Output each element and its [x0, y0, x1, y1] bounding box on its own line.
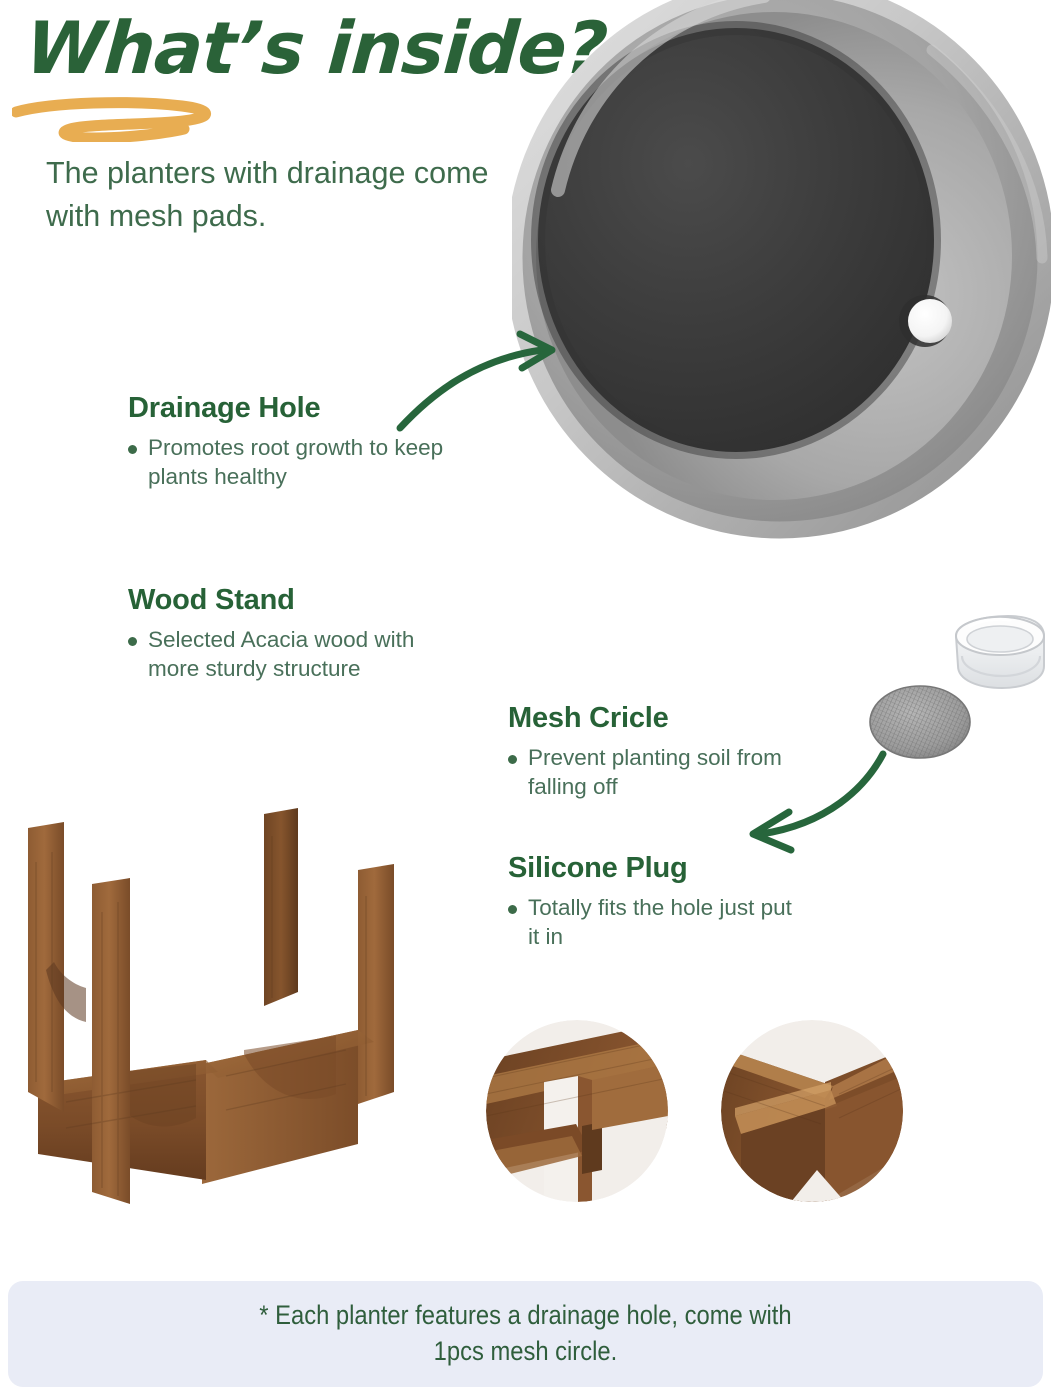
feature-description-silicone-plug: Totally fits the hole just put it in — [528, 894, 808, 952]
page-subtitle: The planters with drainage come with mes… — [46, 152, 516, 239]
feature-heading-mesh-circle: Mesh Cricle — [508, 702, 808, 735]
feature-heading-wood-stand: Wood Stand — [128, 584, 468, 617]
detail-photo-cross-lap-joint — [721, 1020, 903, 1202]
feature-heading-silicone-plug: Silicone Plug — [508, 852, 808, 885]
planter-pot-image — [512, 0, 1051, 556]
bullet-icon — [128, 445, 137, 454]
feature-description-drainage-hole: Promotes root growth to keep plants heal… — [148, 434, 458, 492]
gold-underline-swoosh — [12, 96, 232, 142]
accessories-image — [858, 608, 1051, 783]
bullet-icon — [508, 905, 517, 914]
infographic-canvas: What’s inside? The planters with drainag… — [0, 0, 1051, 1395]
wood-stand-image — [6, 792, 436, 1240]
feature-wood-stand: Wood Stand Selected Acacia wood with mor… — [128, 584, 468, 684]
footer-note-text: * Each planter features a drainage hole,… — [259, 1298, 791, 1370]
feature-heading-drainage-hole: Drainage Hole — [128, 392, 458, 425]
feature-drainage-hole: Drainage Hole Promotes root growth to ke… — [128, 392, 458, 492]
bullet-icon — [128, 637, 137, 646]
footer-note-banner: * Each planter features a drainage hole,… — [8, 1281, 1043, 1387]
feature-silicone-plug: Silicone Plug Totally fits the hole just… — [508, 852, 808, 952]
feature-description-wood-stand: Selected Acacia wood with more sturdy st… — [148, 626, 468, 684]
detail-photo-joinery-slot — [486, 1020, 668, 1202]
bullet-icon — [508, 755, 517, 764]
mesh-circle-item — [866, 682, 978, 764]
silicone-plug-item — [956, 616, 1044, 688]
